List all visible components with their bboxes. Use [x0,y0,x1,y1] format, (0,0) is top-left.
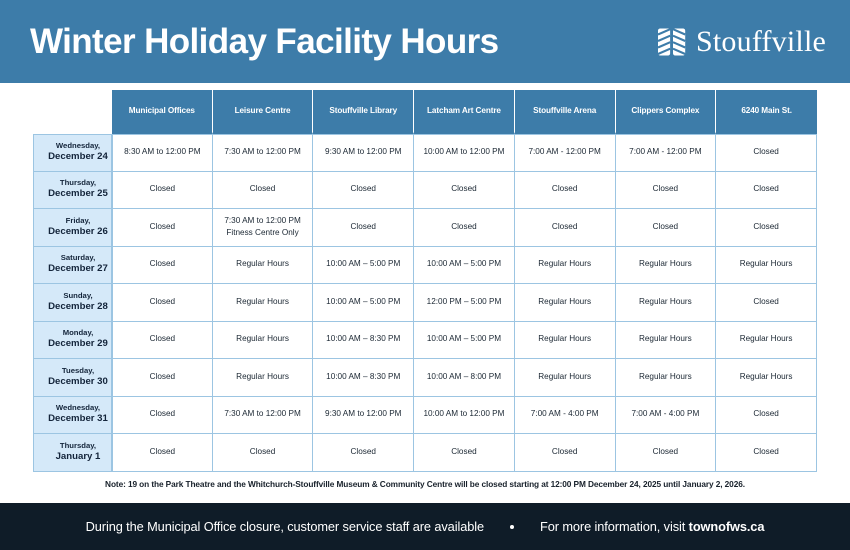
date-cell: Sunday,December 28 [33,284,112,322]
closure-note: Note: 19 on the Park Theatre and the Whi… [33,479,817,489]
table-row: Thursday,December 25ClosedClosedClosedCl… [33,172,817,210]
date-cell: Saturday,December 27 [33,247,112,285]
table-row: Tuesday,December 30ClosedRegular Hours10… [33,359,817,397]
hours-text: 9:30 AM to 12:00 PM [316,409,410,420]
hours-cell: 7:00 AM - 4:00 PM [515,397,616,435]
hours-text: Regular Hours [216,297,310,308]
hours-cell: Closed [616,209,717,247]
hours-cell: Regular Hours [213,359,314,397]
hours-text: Closed [116,447,209,458]
hours-cell: Closed [112,397,213,435]
hours-text: 7:00 AM - 12:00 PM [518,147,612,158]
column-header-3: Latcham Art Centre [414,90,515,134]
hours-cell: 7:00 AM - 12:00 PM [515,134,616,172]
date-label: December 28 [45,301,111,314]
hours-cell: Closed [112,434,213,472]
column-header-1: Leisure Centre [213,90,314,134]
hours-text: Regular Hours [619,259,713,270]
bullet-separator-icon [510,525,514,529]
hours-text: 8:30 AM to 12:00 PM [116,147,209,158]
hours-text: 10:00 AM – 8:00 PM [417,372,511,383]
date-cell: Wednesday,December 31 [33,397,112,435]
hours-cell: 9:30 AM to 12:00 PM [313,134,414,172]
footer-left-text: During the Municipal Office closure, cus… [86,519,484,534]
date-cell: Thursday,December 25 [33,172,112,210]
hours-cell: Regular Hours [616,247,717,285]
hours-cell: Closed [112,284,213,322]
hours-text: 10:00 AM – 5:00 PM [417,259,511,270]
hours-text: Closed [116,409,209,420]
hours-cell: Closed [616,172,717,210]
date-cell: Monday,December 29 [33,322,112,360]
date-label: December 27 [45,263,111,276]
date-cell: Wednesday,December 24 [33,134,112,172]
weekday-label: Wednesday, [45,141,111,151]
hours-cell: 12:00 PM – 5:00 PM [414,284,515,322]
hours-cell: Regular Hours [616,359,717,397]
table-row: Sunday,December 28ClosedRegular Hours10:… [33,284,817,322]
column-header-2: Stouffville Library [313,90,414,134]
hours-cell: Closed [313,209,414,247]
table-row: Thursday,January 1ClosedClosedClosedClos… [33,434,817,472]
footer-right-prefix: For more information, visit [540,519,689,534]
hours-cell: Regular Hours [515,322,616,360]
hours-cell: 7:30 AM to 12:00 PM [213,397,314,435]
hours-text: 7:00 AM - 4:00 PM [619,409,713,420]
weekday-label: Sunday, [45,291,111,301]
page-title: Winter Holiday Facility Hours [30,24,498,59]
hours-text: Closed [619,222,713,233]
hours-cell: Regular Hours [515,247,616,285]
hours-cell: Closed [716,284,817,322]
hours-cell: Closed [716,209,817,247]
schedule-sheet: Municipal OfficesLeisure CentreStouffvil… [0,83,850,503]
hours-cell: 8:30 AM to 12:00 PM [112,134,213,172]
table-row: Monday,December 29ClosedRegular Hours10:… [33,322,817,360]
hours-text: Fitness Centre Only [216,228,310,239]
hours-text: 12:00 PM – 5:00 PM [417,297,511,308]
website-link[interactable]: townofws.ca [689,519,765,534]
hours-cell: 10:00 AM – 5:00 PM [414,322,515,360]
hours-text: 7:30 AM to 12:00 PM [216,216,310,227]
header-row: Municipal OfficesLeisure CentreStouffvil… [33,90,817,134]
hours-cell: Closed [716,134,817,172]
hours-text: 10:00 AM – 5:00 PM [417,334,511,345]
hours-cell: Closed [213,434,314,472]
hours-cell: Closed [716,172,817,210]
hours-text: Closed [216,184,310,195]
hours-text: Closed [719,184,813,195]
hours-cell: Closed [716,397,817,435]
hours-text: Regular Hours [719,334,813,345]
hours-cell: Regular Hours [515,284,616,322]
date-label: December 24 [45,151,111,164]
banner: Winter Holiday Facility Hours Stouffvill… [0,0,850,83]
hours-text: Closed [116,372,209,383]
hours-cell: Closed [112,209,213,247]
hours-cell: Regular Hours [213,284,314,322]
hours-cell: Closed [112,322,213,360]
hours-cell: 10:00 AM – 8:00 PM [414,359,515,397]
corner-cell [33,90,112,134]
footer-right-text: For more information, visit townofws.ca [540,519,764,534]
date-label: December 29 [45,338,111,351]
hours-text: Closed [116,297,209,308]
hours-cell: Closed [414,434,515,472]
hours-text: Regular Hours [619,372,713,383]
date-label: December 26 [45,226,111,239]
hours-cell: Closed [414,209,515,247]
hours-cell: Regular Hours [213,247,314,285]
column-header-0: Municipal Offices [112,90,213,134]
hours-text: Closed [116,184,209,195]
date-label: December 30 [45,376,111,389]
hours-text: Regular Hours [719,372,813,383]
wheat-leaf-logo-icon [655,25,689,59]
hours-cell: Closed [414,172,515,210]
hours-cell: 7:00 AM - 4:00 PM [616,397,717,435]
hours-text: Closed [216,447,310,458]
hours-cell: Regular Hours [716,247,817,285]
hours-text: 7:00 AM - 12:00 PM [619,147,713,158]
hours-cell: 10:00 AM – 5:00 PM [313,284,414,322]
hours-text: Closed [116,334,209,345]
table-row: Wednesday,December 248:30 AM to 12:00 PM… [33,134,817,172]
brand-lockup: Stouffville [655,25,826,59]
date-cell: Friday,December 26 [33,209,112,247]
hours-text: Regular Hours [216,372,310,383]
hours-text: Closed [316,184,410,195]
hours-cell: Closed [616,434,717,472]
hours-text: Closed [116,222,209,233]
date-cell: Thursday,January 1 [33,434,112,472]
hours-cell: 10:00 AM – 8:30 PM [313,322,414,360]
hours-text: Regular Hours [216,259,310,270]
weekday-label: Tuesday, [45,366,111,376]
weekday-label: Wednesday, [45,403,111,413]
brand-name: Stouffville [696,27,826,57]
hours-cell: Closed [313,434,414,472]
hours-cell: Closed [112,359,213,397]
hours-text: Regular Hours [619,297,713,308]
table-head: Municipal OfficesLeisure CentreStouffvil… [33,90,817,134]
hours-cell: Closed [112,247,213,285]
hours-text: Closed [116,259,209,270]
hours-cell: 10:00 AM – 8:30 PM [313,359,414,397]
hours-cell: Closed [112,172,213,210]
hours-cell: 7:30 AM to 12:00 PM [213,134,314,172]
hours-text: Closed [518,222,612,233]
hours-cell: Closed [313,172,414,210]
date-label: December 25 [45,188,111,201]
hours-text: Closed [619,184,713,195]
weekday-label: Monday, [45,328,111,338]
hours-text: Regular Hours [518,334,612,345]
hours-text: Closed [417,447,511,458]
hours-cell: Regular Hours [213,322,314,360]
hours-text: Closed [719,409,813,420]
hours-text: 10:00 AM to 12:00 PM [417,147,511,158]
table-body: Wednesday,December 248:30 AM to 12:00 PM… [33,134,817,472]
footer-bar: During the Municipal Office closure, cus… [0,503,850,550]
weekday-label: Friday, [45,216,111,226]
hours-cell: Regular Hours [716,359,817,397]
hours-cell: 9:30 AM to 12:00 PM [313,397,414,435]
hours-text: Closed [518,184,612,195]
hours-text: Closed [719,147,813,158]
hours-text: Closed [518,447,612,458]
table-row: Wednesday,December 31Closed7:30 AM to 12… [33,397,817,435]
hours-cell: Regular Hours [616,284,717,322]
hours-text: Regular Hours [216,334,310,345]
poster-root: Winter Holiday Facility Hours Stouffvill… [0,0,850,550]
hours-text: Regular Hours [719,259,813,270]
hours-cell: Closed [515,209,616,247]
hours-text: Closed [719,447,813,458]
hours-cell: Closed [515,434,616,472]
table-row: Friday,December 26Closed7:30 AM to 12:00… [33,209,817,247]
hours-cell: 10:00 AM – 5:00 PM [414,247,515,285]
hours-cell: 7:00 AM - 12:00 PM [616,134,717,172]
date-label: December 31 [45,413,111,426]
hours-text: 7:00 AM - 4:00 PM [518,409,612,420]
hours-text: Closed [316,222,410,233]
date-cell: Tuesday,December 30 [33,359,112,397]
hours-cell: Closed [716,434,817,472]
hours-text: 9:30 AM to 12:00 PM [316,147,410,158]
hours-text: Closed [417,184,511,195]
hours-cell: Regular Hours [616,322,717,360]
hours-text: Regular Hours [518,259,612,270]
hours-text: 10:00 AM – 5:00 PM [316,259,410,270]
column-header-4: Stouffville Arena [515,90,616,134]
table-row: Saturday,December 27ClosedRegular Hours1… [33,247,817,285]
hours-text: Closed [719,297,813,308]
hours-cell: Regular Hours [716,322,817,360]
hours-text: Closed [316,447,410,458]
hours-text: 10:00 AM – 8:30 PM [316,372,410,383]
hours-text: 10:00 AM to 12:00 PM [417,409,511,420]
hours-cell: Regular Hours [515,359,616,397]
column-header-6: 6240 Main St. [716,90,817,134]
weekday-label: Saturday, [45,253,111,263]
hours-text: Closed [619,447,713,458]
hours-cell: 7:30 AM to 12:00 PMFitness Centre Only [213,209,314,247]
hours-text: 7:30 AM to 12:00 PM [216,409,310,420]
hours-cell: Closed [515,172,616,210]
hours-text: Regular Hours [518,372,612,383]
hours-text: Closed [417,222,511,233]
hours-text: Closed [719,222,813,233]
weekday-label: Thursday, [45,441,111,451]
hours-cell: 10:00 AM to 12:00 PM [414,397,515,435]
hours-text: Regular Hours [518,297,612,308]
weekday-label: Thursday, [45,178,111,188]
hours-text: 10:00 AM – 8:30 PM [316,334,410,345]
hours-text: Regular Hours [619,334,713,345]
hours-cell: Closed [213,172,314,210]
column-header-5: Clippers Complex [616,90,717,134]
hours-text: 10:00 AM – 5:00 PM [316,297,410,308]
date-label: January 1 [45,451,111,464]
hours-cell: 10:00 AM – 5:00 PM [313,247,414,285]
hours-cell: 10:00 AM to 12:00 PM [414,134,515,172]
facility-hours-table: Municipal OfficesLeisure CentreStouffvil… [33,90,817,472]
hours-text: 7:30 AM to 12:00 PM [216,147,310,158]
